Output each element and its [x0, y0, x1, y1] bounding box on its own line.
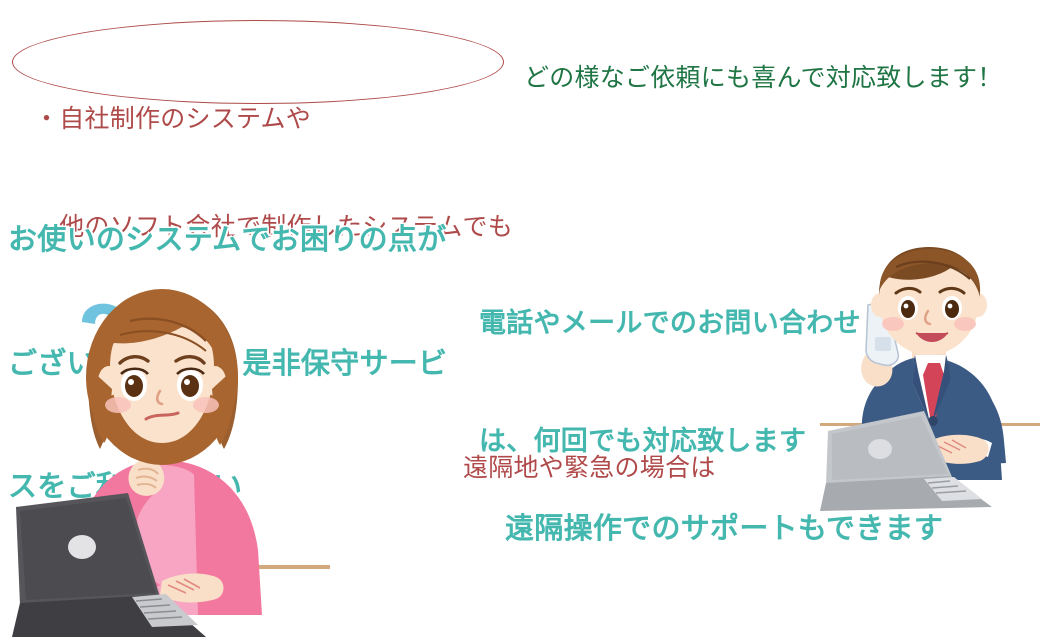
man-on-phone-at-laptop-illustration: [820, 245, 1040, 515]
teal-left-line-1: お使いのシステムでお困りの点が: [8, 220, 447, 261]
remote-support-lead: 遠隔地や緊急の場合は: [463, 452, 716, 484]
green-headline: どの様なご依頼にも喜んで対応致します！: [524, 62, 1003, 94]
teal-middle-message: 電話やメールでのお問い合わせ は、何回でも対応致します: [479, 226, 861, 539]
remote-support-emphasis: 遠隔操作でのサポートもできます: [505, 511, 943, 548]
teal-middle-line-1: 電話やメールでのお問い合わせ: [479, 304, 861, 343]
callout-oval-line-1: ・自社制作のシステムや: [34, 101, 513, 137]
woman-thinking-at-laptop-illustration: [10, 285, 330, 640]
page-canvas: ・自社制作のシステムや ・他のソフト会社で制作したシステムでも どの様なご依頼に…: [0, 0, 1040, 640]
